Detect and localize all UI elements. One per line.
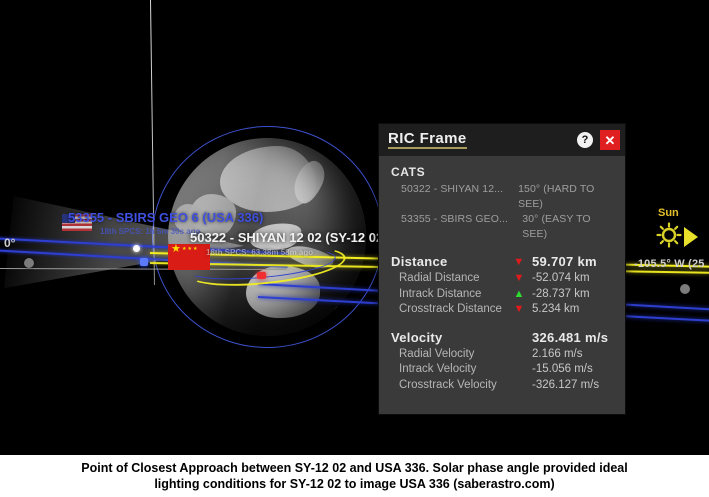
metric-label: Radial Velocity [399,347,506,363]
metric-row-radial-distance: Radial Distance ▼ -52.074 km [391,271,615,287]
cats-row[interactable]: 50322 - SHIYAN 12... 150° (HARD TO SEE) [391,182,615,212]
trend-down-icon: ▼ [506,271,532,287]
panel-title: RIC Frame [388,131,467,149]
metric-value: -52.074 km [532,271,590,287]
spacer [391,242,615,254]
metric-row-radial-velocity: Radial Velocity 2.166 m/s [391,347,615,363]
metric-row-crosstrack-velocity: Crosstrack Velocity -326.127 m/s [391,378,615,394]
metric-label: Intrack Distance [399,287,506,303]
metric-label: Crosstrack Distance [399,302,506,318]
caption-line-2: lighting conditions for SY-12 02 to imag… [154,476,554,492]
distance-total-value: 59.707 km [532,254,597,269]
cats-phase-angle: 150° (HARD TO SEE) [518,182,615,212]
cn-flag-icon [168,244,210,270]
sun-direction-arrow-icon [684,227,698,247]
satellite-label-shiyan[interactable]: 50322 - SHIYAN 12 02 (SY-12 02) [190,230,388,245]
help-icon[interactable]: ? [577,132,593,148]
cats-phase-angle: 30° (EASY TO SEE) [522,212,615,242]
section-heading-cats: CATS [391,165,615,179]
ric-frame-panel[interactable]: RIC Frame ? ✕ CATS 50322 - SHIYAN 12... … [378,123,626,415]
app-root: 53355 - SBIRS GEO 6 (USA 336) 18th SPCS:… [0,0,709,497]
metric-value: -326.127 m/s [532,378,599,394]
satellite-sublabel-sbirs: 18th SPCS: 1h 5m 30s ago [100,227,200,236]
section-heading-velocity: Velocity 326.481 m/s [391,330,615,345]
metric-row-intrack-velocity: Intrack Velocity -15.056 m/s [391,362,615,378]
satellite-label-sbirs[interactable]: 53355 - SBIRS GEO 6 (USA 336) [68,210,263,225]
metric-value: -15.056 m/s [532,362,593,378]
caption-line-1: Point of Closest Approach between SY-12 … [81,460,627,476]
satellite-marker-white[interactable] [133,245,140,252]
sun-label: Sun [658,207,679,219]
satellite-marker-red[interactable] [257,272,266,279]
close-icon[interactable]: ✕ [600,130,620,150]
metric-value: 5.234 km [532,302,579,318]
metric-label: Radial Distance [399,271,506,287]
section-heading-distance: Distance ▼ 59.707 km [391,254,615,269]
metric-label: Crosstrack Velocity [399,378,506,394]
figure-caption: Point of Closest Approach between SY-12 … [0,455,709,497]
cats-satellite-id: 50322 - SHIYAN 12... [401,182,518,212]
cats-row[interactable]: 53355 - SBIRS GEO... 30° (EASY TO SEE) [391,212,615,242]
sun-icon [656,222,682,248]
cats-satellite-id: 53355 - SBIRS GEO... [401,212,522,242]
slider-handle-right[interactable] [680,284,690,294]
velocity-heading-label: Velocity [391,330,506,345]
metric-value: 2.166 m/s [532,347,583,363]
satellite-marker-blue[interactable] [140,258,148,266]
metric-row-intrack-distance: Intrack Distance ▲ -28.737 km [391,287,615,303]
spacer [391,318,615,330]
slider-handle-left[interactable] [24,258,34,268]
latitude-zero-label: 0° [4,236,15,250]
sun-indicator[interactable]: Sun [650,207,708,259]
trend-up-icon: ▲ [506,287,532,303]
satellite-sublabel-shiyan: 18th SPCS: 63.38m 58m ago [206,248,313,257]
panel-body: CATS 50322 - SHIYAN 12... 150° (HARD TO … [379,156,625,414]
longitude-readout: -105.5° W (25 [634,258,705,270]
trend-down-icon: ▼ [506,302,532,318]
panel-titlebar[interactable]: RIC Frame ? ✕ [379,124,625,156]
distance-heading-label: Distance [391,254,506,269]
metric-value: -28.737 km [532,287,590,303]
velocity-total-value: 326.481 m/s [532,330,608,345]
metric-row-crosstrack-distance: Crosstrack Distance ▼ 5.234 km [391,302,615,318]
metric-label: Intrack Velocity [399,362,506,378]
trend-down-icon: ▼ [506,256,532,268]
